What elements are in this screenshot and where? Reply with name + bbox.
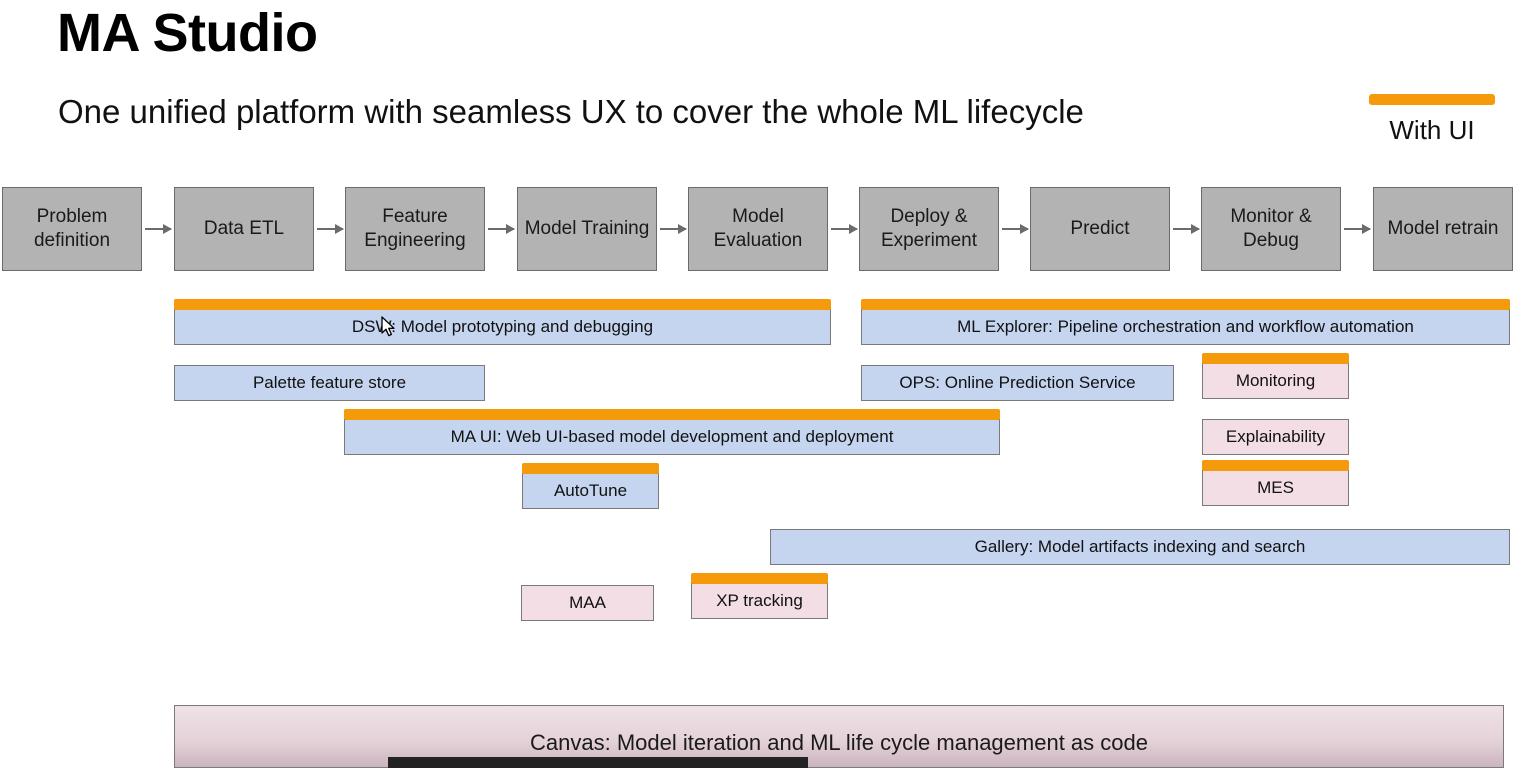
product-label: MES: [1257, 478, 1294, 498]
product-maa[interactable]: MAA: [521, 585, 654, 621]
product-monitoring[interactable]: Monitoring: [1202, 363, 1349, 399]
product-gallery[interactable]: Gallery: Model artifacts indexing and se…: [770, 529, 1510, 565]
pipeline-stage-feature-engineering[interactable]: Feature Engineering: [345, 187, 485, 271]
pipeline-arrow-3: [488, 228, 514, 230]
pipeline-stage-label: Model retrain: [1388, 217, 1499, 241]
product-ml-explorer[interactable]: ML Explorer: Pipeline orchestration and …: [861, 309, 1510, 345]
legend-with-ui-label: With UI: [1362, 115, 1502, 145]
product-dsw[interactable]: DSW: Model prototyping and debugging: [174, 309, 831, 345]
pipeline-stage-label: Deploy & Experiment: [864, 205, 994, 253]
pipeline-stage-label: Model Evaluation: [693, 205, 823, 253]
pipeline-stage-monitor-debug[interactable]: Monitor & Debug: [1201, 187, 1341, 271]
pipeline-arrow-5: [831, 228, 857, 230]
pipeline-stage-label: Monitor & Debug: [1206, 205, 1336, 253]
pipeline-arrow-6: [1002, 228, 1028, 230]
video-control-bar[interactable]: [388, 757, 808, 768]
product-label: Explainability: [1226, 427, 1325, 447]
product-ma-ui[interactable]: MA UI: Web UI-based model development an…: [344, 419, 1000, 455]
product-label: AutoTune: [554, 481, 627, 501]
page-title: MA Studio: [57, 2, 317, 64]
with-ui-strip: [174, 299, 831, 310]
product-label: Palette feature store: [253, 373, 406, 393]
pipeline-arrow-1: [145, 228, 171, 230]
with-ui-strip: [522, 463, 659, 474]
product-palette-feature-store[interactable]: Palette feature store: [174, 365, 485, 401]
product-explainability[interactable]: Explainability: [1202, 419, 1349, 455]
pipeline-stage-label: Predict: [1070, 217, 1129, 241]
pipeline-arrow-8: [1344, 228, 1370, 230]
pipeline-stage-problem-definition[interactable]: Problem definition: [2, 187, 142, 271]
pipeline-stage-label: Feature Engineering: [350, 205, 480, 253]
pipeline-stage-label: Data ETL: [204, 217, 284, 241]
pipeline-arrow-2: [317, 228, 343, 230]
pipeline-arrow-7: [1173, 228, 1199, 230]
product-xp-tracking[interactable]: XP tracking: [691, 583, 828, 619]
page-subtitle: One unified platform with seamless UX to…: [58, 88, 1084, 136]
pipeline-stage-predict[interactable]: Predict: [1030, 187, 1170, 271]
with-ui-strip: [691, 573, 828, 584]
with-ui-strip: [344, 409, 1000, 420]
product-ops[interactable]: OPS: Online Prediction Service: [861, 365, 1174, 401]
product-label: MAA: [569, 593, 606, 613]
product-label: Monitoring: [1236, 371, 1315, 391]
pipeline-stage-label: Problem definition: [7, 205, 137, 253]
pipeline-stage-model-retrain[interactable]: Model retrain: [1373, 187, 1513, 271]
with-ui-strip: [861, 299, 1510, 310]
product-label: ML Explorer: Pipeline orchestration and …: [957, 317, 1414, 337]
product-label: DSW: Model prototyping and debugging: [352, 317, 653, 337]
pipeline-stage-deploy-experiment[interactable]: Deploy & Experiment: [859, 187, 999, 271]
pipeline-stage-data-etl[interactable]: Data ETL: [174, 187, 314, 271]
mouse-cursor: [381, 316, 397, 338]
pipeline-stage-label: Model Training: [525, 217, 650, 241]
legend-with-ui-swatch: [1369, 94, 1495, 105]
with-ui-strip: [1202, 460, 1349, 471]
product-label: Gallery: Model artifacts indexing and se…: [975, 537, 1306, 557]
product-mes[interactable]: MES: [1202, 470, 1349, 506]
product-label: MA UI: Web UI-based model development an…: [451, 427, 894, 447]
pipeline-arrow-4: [660, 228, 686, 230]
product-label: XP tracking: [716, 591, 803, 611]
product-label: OPS: Online Prediction Service: [899, 373, 1135, 393]
product-autotune[interactable]: AutoTune: [522, 473, 659, 509]
pipeline-stage-model-evaluation[interactable]: Model Evaluation: [688, 187, 828, 271]
lifecycle-pipeline: Problem definition Data ETL Feature Engi…: [0, 187, 1521, 273]
pipeline-stage-model-training[interactable]: Model Training: [517, 187, 657, 271]
with-ui-strip: [1202, 353, 1349, 364]
product-label: Canvas: Model iteration and ML life cycl…: [530, 730, 1148, 756]
legend: With UI: [1362, 94, 1502, 145]
product-canvas[interactable]: Canvas: Model iteration and ML life cycl…: [174, 705, 1504, 768]
